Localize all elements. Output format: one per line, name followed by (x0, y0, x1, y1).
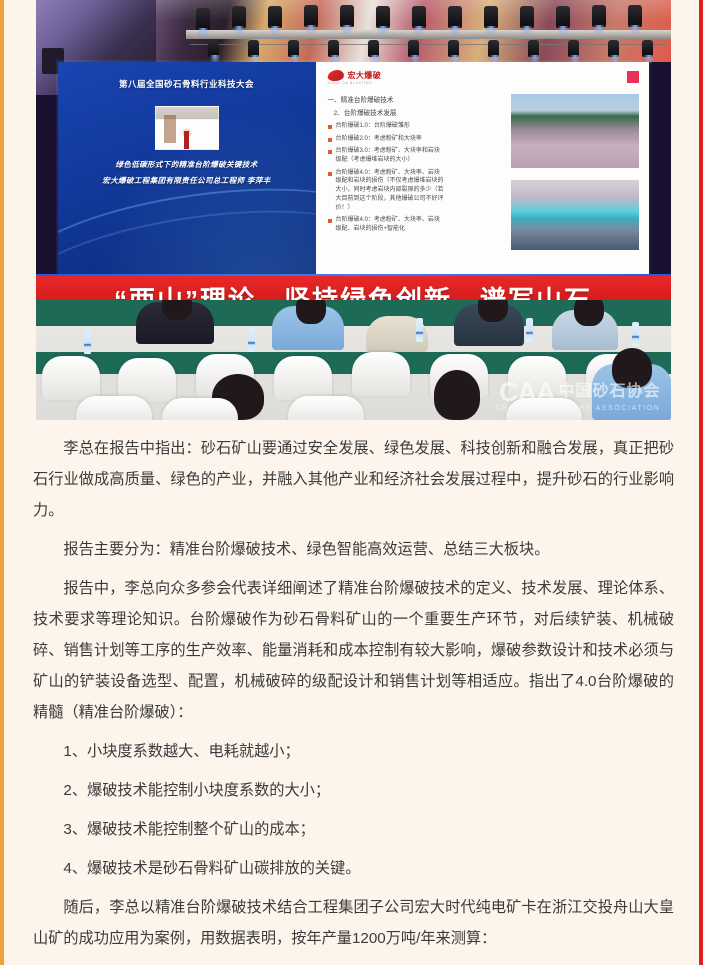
audience-chair (352, 352, 410, 396)
slide-bullet-list: 台阶爆破1.0：台阶爆破雏形 台阶爆破2.0：考虑粉矿和大块率 台阶爆破3.0：… (328, 122, 533, 234)
slide-left-panel: 第八届全国砂石骨料行业科技大会 绿色低碳形式下的精准台阶爆破关键技术 宏大爆破工… (58, 62, 316, 274)
water-bottle (632, 322, 639, 346)
bullet-continuation: 大小，同时考虑岩块内部裂隙的多少（若 (336, 186, 533, 195)
slide-mine-photos (511, 94, 639, 262)
slide-brand-subtitle: HONG DA BLASTING (328, 81, 640, 85)
list-item: 4、爆破技术是砂石骨料矿山碳排放的关键。 (33, 853, 674, 884)
water-bottle (416, 318, 423, 342)
blasting-swoosh-icon (326, 70, 344, 81)
bullet-text: 台阶爆破3.0：考虑粉矿、大块率和岩块 (336, 147, 440, 156)
bullet-continuation: 级配、岩块的损伤+智能化 (336, 225, 533, 234)
page-inner: 第八届全国砂石骨料行业科技大会 绿色低碳形式下的精准台阶爆破关键技术 宏大爆破工… (4, 0, 699, 965)
slide-bullet-item: 台阶爆破1.0：台阶爆破雏形 (328, 122, 533, 131)
slide-subject-line-1: 绿色低碳形式下的精准台阶爆破关键技术 (58, 159, 316, 170)
bullet-text: 台阶爆破1.0：台阶爆破雏形 (336, 122, 410, 131)
bullet-text: 台阶爆破2.0：考虑粉矿和大块率 (336, 135, 422, 144)
slide-speaker-portrait (155, 106, 219, 150)
slide-brand-name: 宏大爆破 (348, 70, 382, 81)
water-bottle (248, 328, 255, 352)
water-bottle (84, 330, 91, 354)
paragraph: 报告主要分为：精准台阶爆破技术、绿色智能高效运营、总结三大板块。 (33, 534, 674, 565)
audience-chair (76, 396, 152, 420)
audience-chair (508, 356, 566, 400)
slide-bullet-item: 台阶爆破4.0：考虑粉矿、大块率、岩块 (328, 169, 533, 178)
audience-chair (288, 396, 364, 420)
slide-right-panel: 宏大爆破 HONG DA BLASTING 一、精准台阶爆破技术 2、台阶爆破技… (316, 62, 649, 274)
bullet-text: 台阶爆破4.0：考虑粉矿、大块率、岩块 (336, 216, 440, 225)
article-body: 李总在报告中指出：砂石矿山要通过安全发展、绿色发展、科技创新和融合发展，真正把砂… (30, 420, 676, 965)
bullet-continuation: 级配（考虑爆堆岩块的大小） (336, 156, 533, 165)
slide-subject-line-2: 宏大爆破工程集团有限责任公司总工程师 李萍丰 (58, 175, 316, 186)
bullet-continuation: 级配和岩块的损伤（不仅考虑爆堆岩块的 (336, 177, 533, 186)
slide-red-square-decor (627, 71, 639, 83)
audience-person-head (162, 300, 192, 320)
mine-photo-bottom (511, 180, 639, 250)
bullet-square-icon (328, 150, 332, 154)
list-item: 3、爆破技术能控制整个矿山的成本； (33, 814, 674, 845)
audience-person-head (574, 300, 604, 326)
bullet-square-icon (328, 125, 332, 129)
mine-photo-top (511, 94, 639, 168)
slide-conference-title: 第八届全国砂石骨料行业科技大会 (58, 78, 316, 90)
bullet-square-icon (328, 138, 332, 142)
paragraph: 随后，李总以精准台阶爆破技术结合工程集团子公司宏大时代纯电矿卡在浙江交投舟山大皇… (33, 892, 674, 954)
audience-chair (42, 356, 100, 400)
audience-person-head (612, 348, 652, 388)
audience-person-head (478, 300, 508, 322)
audience-chair (506, 398, 582, 420)
bullet-continuation: 价！） (336, 204, 533, 213)
slide-bullet-item: 台阶爆破3.0：考虑粉矿、大块率和岩块 (328, 147, 533, 156)
article-page: 第八届全国砂石骨料行业科技大会 绿色低碳形式下的精准台阶爆破关键技术 宏大爆破工… (0, 0, 703, 965)
bullet-text: 台阶爆破4.0：考虑粉矿、大块率、岩块 (336, 169, 440, 178)
paragraph: 李总在报告中指出：砂石矿山要通过安全发展、绿色发展、科技创新和融合发展，真正把砂… (33, 433, 674, 526)
list-item: 2、爆破技术能控制小块度系数的大小； (33, 775, 674, 806)
paragraph: 报告中，李总向众多参会代表详细阐述了精准台阶爆破技术的定义、技术发展、理论体系、… (33, 573, 674, 728)
audience-chair (274, 356, 332, 400)
bullet-continuation: 大目前到这个阶段，其他爆破公司不好评 (336, 195, 533, 204)
audience-area: CAA中国砂石协会 CHINA AGGREGATES ASSOCIATION (36, 300, 671, 420)
slide-bullet-item: 台阶爆破2.0：考虑粉矿和大块率 (328, 135, 533, 144)
audience-chair (162, 398, 238, 420)
audience-person-head (296, 300, 326, 324)
water-bottle (526, 318, 533, 342)
list-item: 1、小块度系数越大、电耗就越小； (33, 736, 674, 767)
slide-bullet-item: 台阶爆破4.0：考虑粉矿、大块率、岩块 (328, 216, 533, 225)
bullet-square-icon (328, 219, 332, 223)
bullet-square-icon (328, 172, 332, 176)
slide-brand-logo: 宏大爆破 (328, 70, 640, 81)
conference-stage-photo: 第八届全国砂石骨料行业科技大会 绿色低碳形式下的精准台阶爆破关键技术 宏大爆破工… (36, 0, 671, 420)
audience-person-head (434, 370, 480, 420)
led-presentation-screen: 第八届全国砂石骨料行业科技大会 绿色低碳形式下的精准台阶爆破关键技术 宏大爆破工… (58, 62, 649, 274)
